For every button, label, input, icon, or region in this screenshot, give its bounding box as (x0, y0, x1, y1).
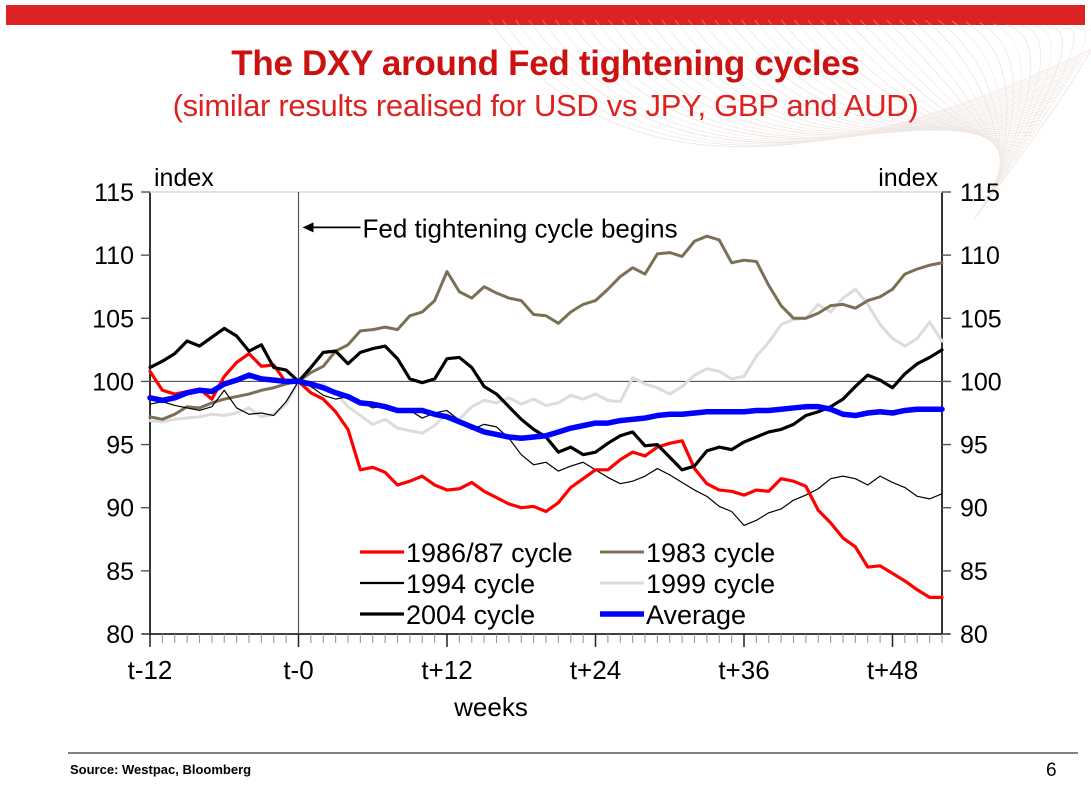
x-axis-label: t-0 (283, 655, 313, 685)
y-axis-label-right: 90 (960, 495, 988, 523)
x-axis-label: t-12 (128, 655, 173, 685)
y-axis-label-left: 100 (92, 368, 134, 396)
y-axis-unit-right: index (878, 164, 938, 192)
annotation-arrow-head-icon (303, 222, 314, 232)
y-axis-label-right: 115 (960, 179, 1000, 207)
top-red-banner (6, 5, 1085, 25)
legend-label-2: 1994 cycle (406, 569, 535, 599)
x-axis-label: t+36 (718, 655, 769, 685)
x-axis-title: weeks (453, 692, 528, 722)
y-axis-unit-left: index (154, 164, 214, 192)
y-axis-label-left: 115 (94, 179, 134, 207)
y-axis-label-left: 85 (106, 558, 134, 586)
x-axis-label: t+24 (570, 655, 621, 685)
legend-label-3: 1999 cycle (646, 569, 775, 599)
footer-divider (68, 752, 1078, 754)
x-axis-label: t+12 (421, 655, 472, 685)
y-axis-label-right: 110 (960, 242, 1000, 270)
y-axis-label-right: 105 (960, 305, 1002, 333)
series-line-2004-cycle (150, 328, 942, 469)
annotation-label: Fed tightening cycle begins (363, 213, 678, 243)
series-line-1994-cycle (150, 381, 942, 525)
y-axis-label-left: 110 (94, 242, 134, 270)
y-axis-label-left: 90 (106, 495, 134, 523)
page-title: The DXY around Fed tightening cycles (0, 42, 1091, 86)
legend-label-1: 1983 cycle (646, 538, 775, 568)
page-number: 6 (1046, 760, 1057, 782)
y-axis-label-right: 85 (960, 558, 988, 586)
y-axis-label-left: 80 (106, 621, 134, 649)
y-axis-label-left: 95 (106, 432, 134, 460)
line-chart: 8080858590909595100100105105110110115115… (0, 150, 1091, 740)
chart-container: 8080858590909595100100105105110110115115… (0, 150, 1091, 740)
series-line-1983-cycle (150, 236, 942, 419)
y-axis-label-left: 105 (92, 305, 134, 333)
legend-label-4: 2004 cycle (406, 600, 535, 630)
page-subtitle: (similar results realised for USD vs JPY… (0, 86, 1091, 126)
y-axis-label-right: 100 (960, 368, 1002, 396)
legend-label-0: 1986/87 cycle (406, 538, 573, 568)
x-axis-label: t+48 (867, 655, 918, 685)
slide-title-block: The DXY around Fed tightening cycles (si… (0, 42, 1091, 126)
y-axis-label-right: 95 (960, 432, 988, 460)
legend-label-5: Average (646, 600, 746, 630)
y-axis-label-right: 80 (960, 621, 988, 649)
source-note: Source: Westpac, Bloomberg (70, 762, 251, 777)
